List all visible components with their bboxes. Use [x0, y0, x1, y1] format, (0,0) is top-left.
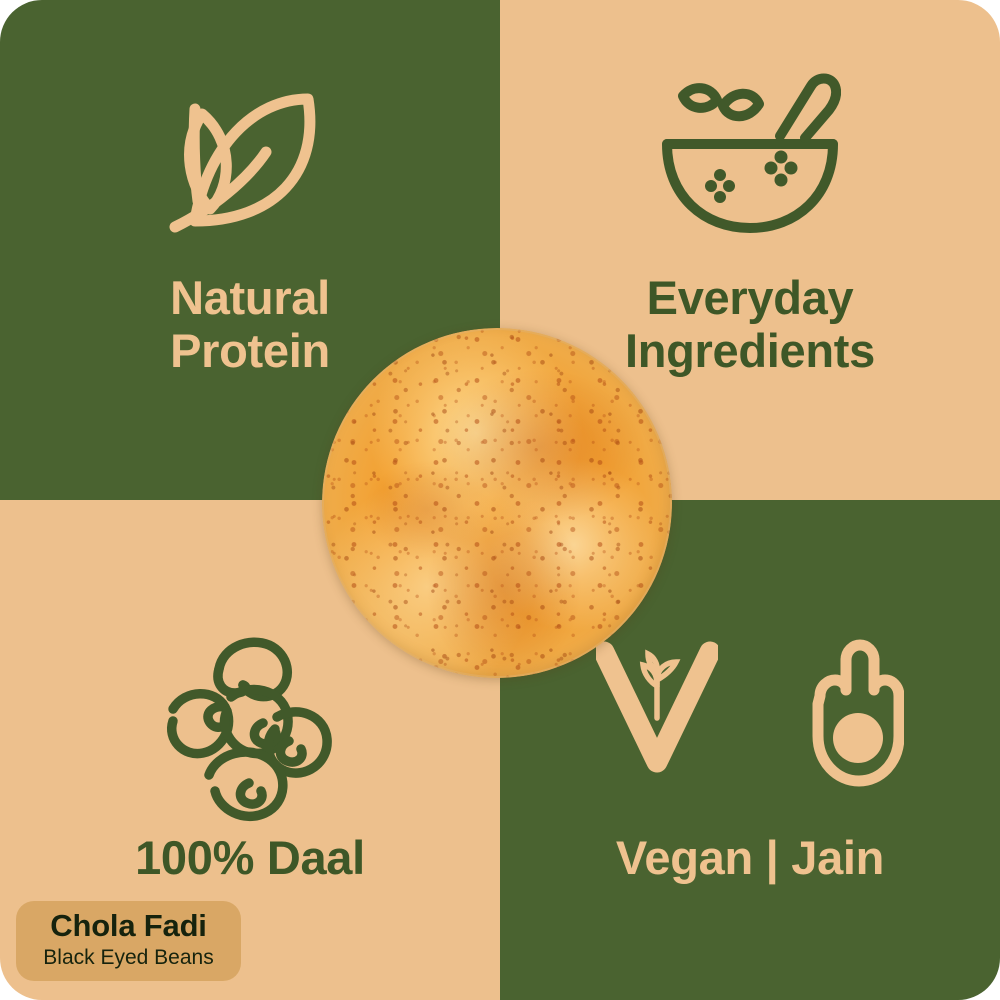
mortar-pestle-icon: [659, 62, 841, 234]
feature-label-vegan-jain: Vegan | Jain: [500, 832, 1000, 885]
jain-hand-icon: [804, 638, 904, 788]
product-subtitle: Black Eyed Beans: [26, 945, 231, 970]
leaf-icon-wrapper: [0, 62, 500, 242]
feature-label-hundred-percent-daal: 100% Daal: [0, 832, 500, 885]
papad-cracker-photo: [322, 328, 672, 678]
product-feature-infographic: Natural Protein: [0, 0, 1000, 1000]
feature-label-line-1: 100% Daal: [0, 832, 500, 885]
feature-label-line-1: Vegan | Jain: [500, 832, 1000, 885]
mortar-pestle-icon-wrapper: [500, 58, 1000, 238]
feature-label-line-1: Everyday: [500, 272, 1000, 325]
product-name: Chola Fadi: [26, 908, 231, 943]
leaf-icon: [162, 69, 338, 235]
cracker-edge-highlight: [322, 328, 672, 678]
beans-icon: [157, 627, 343, 823]
vegan-v-icon: [596, 638, 718, 788]
product-name-badge: Chola Fadi Black Eyed Beans: [16, 901, 241, 981]
feature-label-line-1: Natural: [0, 272, 500, 325]
